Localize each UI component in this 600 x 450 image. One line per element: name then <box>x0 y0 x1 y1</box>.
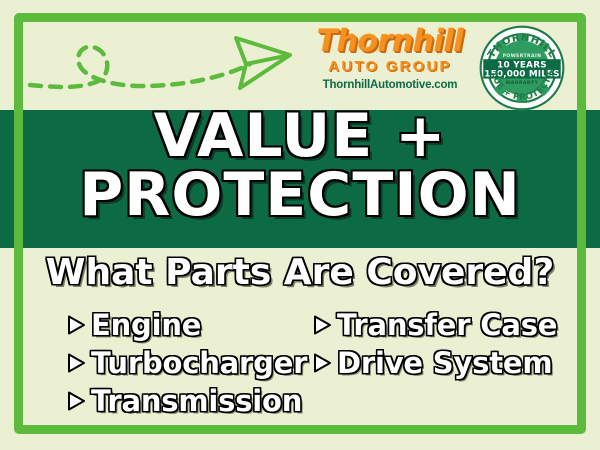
covered-parts-lists: Engine Turbocharger Transmission <box>0 306 600 426</box>
logo-subtitle: AUTO GROUP <box>310 58 470 76</box>
list-item: Turbocharger <box>66 344 307 382</box>
thornhill-logo: Thornhill AUTO GROUP ThornhillAutomotive… <box>310 26 470 92</box>
ad-header: Thornhill AUTO GROUP ThornhillAutomotive… <box>0 0 600 110</box>
warranty-seal-badge: THORNHILL POWERTRAIN 10 YEARS 150,000 MI… <box>478 24 566 112</box>
parts-column-right: Transfer Case Drive System <box>312 306 557 382</box>
list-item: Transmission <box>66 382 307 420</box>
part-label: Turbocharger <box>91 348 307 378</box>
headline-line-1: VALUE + <box>0 108 600 165</box>
triangle-right-icon <box>66 352 86 374</box>
triangle-right-icon <box>66 390 86 412</box>
covered-parts-question: What Parts Are Covered? <box>0 253 600 293</box>
main-headline: VALUE + PROTECTION <box>0 108 600 224</box>
part-label: Drive System <box>337 348 552 378</box>
part-label: Transfer Case <box>337 310 557 340</box>
list-item: Engine <box>66 306 307 344</box>
triangle-right-icon <box>66 314 86 336</box>
list-item: Drive System <box>312 344 557 382</box>
question-text: What Parts Are Covered? <box>46 252 554 293</box>
headline-line-2: PROTECTION <box>0 167 600 224</box>
parts-column-left: Engine Turbocharger Transmission <box>66 306 307 420</box>
part-label: Engine <box>91 310 201 340</box>
warranty-ad-banner: Thornhill AUTO GROUP ThornhillAutomotive… <box>0 0 600 450</box>
seal-powertrain-text: POWERTRAIN <box>503 53 542 59</box>
part-label: Transmission <box>91 386 302 416</box>
logo-website-url: ThornhillAutomotive.com <box>310 78 470 92</box>
seal-warranty-text: WARRANTY <box>506 80 539 86</box>
list-item: Transfer Case <box>312 306 557 344</box>
logo-brand-name: Thornhill <box>310 26 470 58</box>
dashed-arrow-icon <box>22 22 302 104</box>
triangle-right-icon <box>312 352 332 374</box>
triangle-right-icon <box>312 314 332 336</box>
